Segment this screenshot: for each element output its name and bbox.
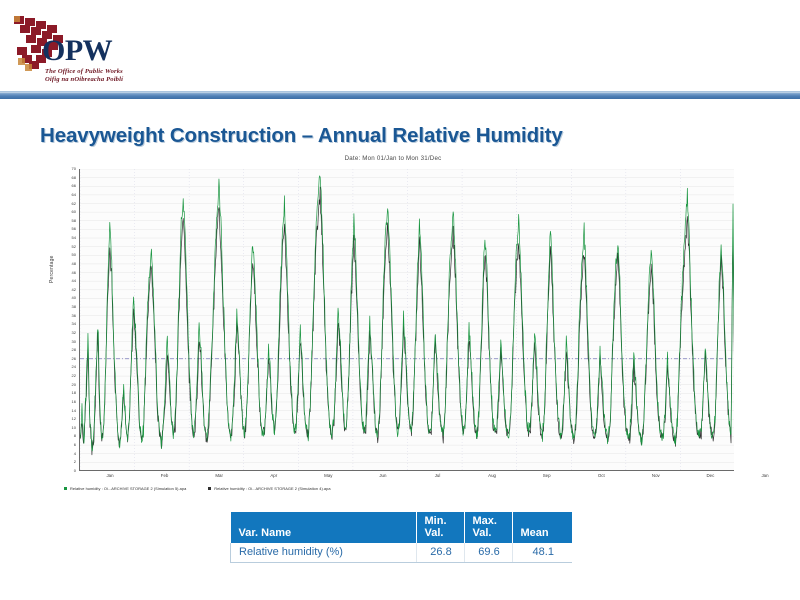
x-tick-label: May — [324, 473, 332, 478]
x-tick-label: Oct — [598, 473, 605, 478]
column-header-min-val: Min. Val. — [416, 512, 464, 543]
chart-y-axis-ticks: 0246810121416182022242628303234363840424… — [56, 169, 78, 471]
y-tick-label: 16 — [72, 400, 76, 404]
y-tick-label: 10 — [72, 426, 76, 430]
legend-entry: Relative humidity : Oi...ARCHIVE STORAGE… — [208, 486, 330, 491]
stats-table: Var. Name Min. Val. Max. Val. Mean Relat… — [230, 512, 572, 563]
y-tick-label: 36 — [72, 314, 76, 318]
chart-series-line — [80, 176, 734, 451]
logo-wordmark: OPW — [42, 36, 112, 66]
opw-logo: OPW The Office of Public Works Oifig na … — [12, 14, 242, 88]
y-tick-label: 20 — [72, 383, 76, 387]
legend-entry: Relative humidity : Oi...ARCHIVE STORAGE… — [64, 486, 186, 491]
legend-swatch-icon — [64, 487, 67, 490]
legend-label: Relative humidity : Oi...ARCHIVE STORAGE… — [214, 486, 330, 491]
slide-header: OPW The Office of Public Works Oifig na … — [0, 0, 800, 92]
chart-legend: Relative humidity : Oi...ARCHIVE STORAGE… — [64, 486, 724, 491]
y-tick-label: 4 — [74, 452, 76, 456]
y-tick-label: 34 — [72, 322, 76, 326]
y-tick-label: 60 — [72, 210, 76, 214]
x-tick-label: Jun — [379, 473, 386, 478]
y-tick-label: 8 — [74, 434, 76, 438]
y-tick-label: 28 — [72, 348, 76, 352]
y-tick-label: 24 — [72, 365, 76, 369]
y-tick-label: 40 — [72, 296, 76, 300]
y-tick-label: 26 — [72, 357, 76, 361]
x-tick-label: Feb — [161, 473, 169, 478]
y-tick-label: 54 — [72, 236, 76, 240]
y-tick-label: 56 — [72, 227, 76, 231]
y-tick-label: 70 — [72, 167, 76, 171]
y-tick-label: 18 — [72, 391, 76, 395]
y-tick-label: 62 — [72, 202, 76, 206]
chart-series-canvas — [80, 169, 734, 471]
cell-mean: 48.1 — [512, 543, 572, 563]
y-tick-label: 52 — [72, 245, 76, 249]
logo-subtitle-en: The Office of Public Works — [45, 68, 123, 75]
y-tick-label: 44 — [72, 279, 76, 283]
y-tick-label: 58 — [72, 219, 76, 223]
cell-min-val: 26.8 — [416, 543, 464, 563]
table-header-row: Var. Name Min. Val. Max. Val. Mean — [231, 512, 573, 543]
column-header-mean: Mean — [512, 512, 572, 543]
table-row: Relative humidity (%)26.869.648.1 — [231, 543, 573, 563]
y-tick-label: 66 — [72, 184, 76, 188]
legend-swatch-icon — [208, 487, 211, 490]
x-tick-label: Jan — [106, 473, 113, 478]
x-tick-label: Jan — [761, 473, 768, 478]
x-tick-label: Mar — [215, 473, 223, 478]
y-tick-label: 64 — [72, 193, 76, 197]
y-tick-label: 48 — [72, 262, 76, 266]
x-tick-label: Jul — [435, 473, 441, 478]
x-tick-label: Nov — [652, 473, 660, 478]
table-body: Relative humidity (%)26.869.648.1 — [231, 543, 573, 563]
x-tick-label: Apr — [270, 473, 277, 478]
page-title: Heavyweight Construction – Annual Relati… — [40, 124, 563, 148]
y-tick-label: 12 — [72, 417, 76, 421]
y-tick-label: 14 — [72, 409, 76, 413]
chart-plot-area — [79, 169, 734, 471]
x-tick-label: Dec — [707, 473, 715, 478]
column-header-max-val: Max. Val. — [464, 512, 512, 543]
y-tick-label: 22 — [72, 374, 76, 378]
logo-subtitle-ga: Oifig na nOibreacha Poiblí — [45, 76, 123, 83]
cell-max-val: 69.6 — [464, 543, 512, 563]
y-tick-label: 6 — [74, 443, 76, 447]
y-tick-label: 0 — [74, 469, 76, 473]
y-tick-label: 42 — [72, 288, 76, 292]
x-tick-label: Sep — [543, 473, 551, 478]
chart-series-lines — [80, 176, 734, 455]
y-tick-label: 46 — [72, 271, 76, 275]
y-tick-label: 38 — [72, 305, 76, 309]
y-tick-label: 32 — [72, 331, 76, 335]
chart-x-axis-ticks: JanFebMarAprMayJunJulAugSepOctNovDecJan — [79, 473, 734, 483]
humidity-chart: Date: Mon 01/Jan to Mon 31/Dec Percentag… — [48, 155, 738, 503]
header-divider — [0, 91, 800, 99]
y-tick-label: 68 — [72, 176, 76, 180]
legend-label: Relative humidity : Oi...ARCHIVE STORAGE… — [70, 486, 186, 491]
chart-title: Date: Mon 01/Jan to Mon 31/Dec — [48, 155, 738, 162]
y-tick-label: 30 — [72, 340, 76, 344]
x-tick-label: Aug — [488, 473, 496, 478]
chart-y-axis-label: Percentage — [49, 255, 55, 283]
cell-var-name: Relative humidity (%) — [231, 543, 417, 563]
column-header-var-name: Var. Name — [231, 512, 417, 543]
y-tick-label: 50 — [72, 253, 76, 257]
y-tick-label: 2 — [74, 460, 76, 464]
